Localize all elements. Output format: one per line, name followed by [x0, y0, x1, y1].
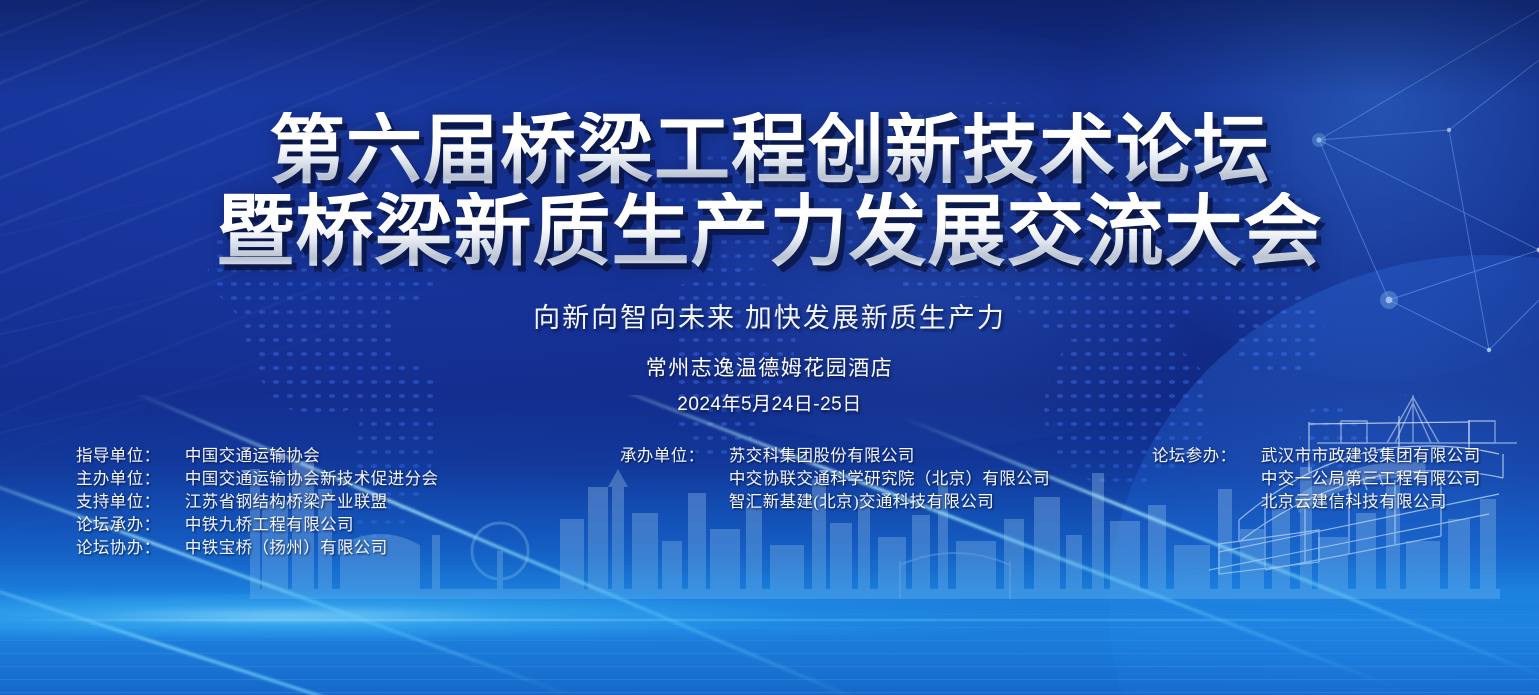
org-value: 中交一公局第三工程有限公司: [1261, 467, 1481, 490]
org-value: 北京云建信科技有限公司: [1261, 490, 1447, 513]
org-value: 中铁九桥工程有限公司: [185, 513, 354, 536]
org-value: 中铁宝桥（扬州）有限公司: [185, 536, 388, 559]
title-block: 第六届桥梁工程创新技术论坛 暨桥梁新质生产力发展交流大会: [0, 112, 1539, 271]
organization-row: 主办单位： 中国交通运输协会新技术促进分会: [76, 467, 438, 490]
organization-row: 承办单位： 苏交科集团股份有限公司: [620, 444, 1050, 467]
organization-row: 承办单位： 中交协联交通科学研究院（北京）有限公司: [620, 467, 1050, 490]
title-line-1: 第六届桥梁工程创新技术论坛: [0, 112, 1539, 190]
conference-banner: 第六届桥梁工程创新技术论坛 暨桥梁新质生产力发展交流大会 向新向智向未来 加快发…: [0, 0, 1539, 695]
org-value: 中国交通运输协会: [185, 444, 320, 467]
organization-row: 指导单位： 中国交通运输协会: [76, 444, 438, 467]
org-value: 苏交科集团股份有限公司: [729, 444, 915, 467]
org-value: 江苏省钢结构桥梁产业联盟: [185, 490, 388, 513]
organizations-right-column: 论坛参办： 武汉市市政建设集团有限公司 论坛参办： 中交一公局第三工程有限公司 …: [1152, 444, 1481, 513]
event-dates: 2024年5月24日-25日: [0, 389, 1539, 416]
org-label: 论坛承办：: [76, 513, 185, 536]
organization-row: 承办单位： 智汇新基建(北京)交通科技有限公司: [620, 490, 1050, 513]
organizations-middle-column: 承办单位： 苏交科集团股份有限公司 承办单位： 中交协联交通科学研究院（北京）有…: [620, 444, 1050, 513]
organization-row: 支持单位： 江苏省钢结构桥梁产业联盟: [76, 490, 438, 513]
organization-row: 论坛承办： 中铁九桥工程有限公司: [76, 513, 438, 536]
organization-row: 论坛参办： 中交一公局第三工程有限公司: [1152, 467, 1481, 490]
org-value: 中交协联交通科学研究院（北京）有限公司: [729, 467, 1050, 490]
organization-row: 论坛参办： 武汉市市政建设集团有限公司: [1152, 444, 1481, 467]
organizations-section: 指导单位： 中国交通运输协会 主办单位： 中国交通运输协会新技术促进分会 支持单…: [0, 444, 1539, 564]
venue-name: 常州志逸温德姆花园酒店: [0, 352, 1539, 382]
organization-row: 论坛协办： 中铁宝桥（扬州）有限公司: [76, 536, 438, 559]
org-label: 指导单位：: [76, 444, 185, 467]
organization-row: 论坛参办： 北京云建信科技有限公司: [1152, 490, 1481, 513]
organizations-left-column: 指导单位： 中国交通运输协会 主办单位： 中国交通运输协会新技术促进分会 支持单…: [76, 444, 438, 559]
org-label: 论坛参办：: [1152, 444, 1261, 467]
org-value: 智汇新基建(北京)交通科技有限公司: [729, 490, 994, 513]
org-label: 支持单位：: [76, 490, 185, 513]
venue-block: 常州志逸温德姆花园酒店 2024年5月24日-25日: [0, 352, 1539, 416]
org-label: 主办单位：: [76, 467, 185, 490]
org-value: 武汉市市政建设集团有限公司: [1261, 444, 1481, 467]
org-label: 论坛协办：: [76, 536, 185, 559]
subtitle: 向新向智向未来 加快发展新质生产力: [0, 296, 1539, 335]
title-line-2: 暨桥梁新质生产力发展交流大会: [0, 192, 1539, 272]
org-value: 中国交通运输协会新技术促进分会: [185, 467, 439, 490]
org-label: 承办单位：: [620, 444, 729, 467]
banner-content: 第六届桥梁工程创新技术论坛 暨桥梁新质生产力发展交流大会 向新向智向未来 加快发…: [0, 0, 1539, 695]
